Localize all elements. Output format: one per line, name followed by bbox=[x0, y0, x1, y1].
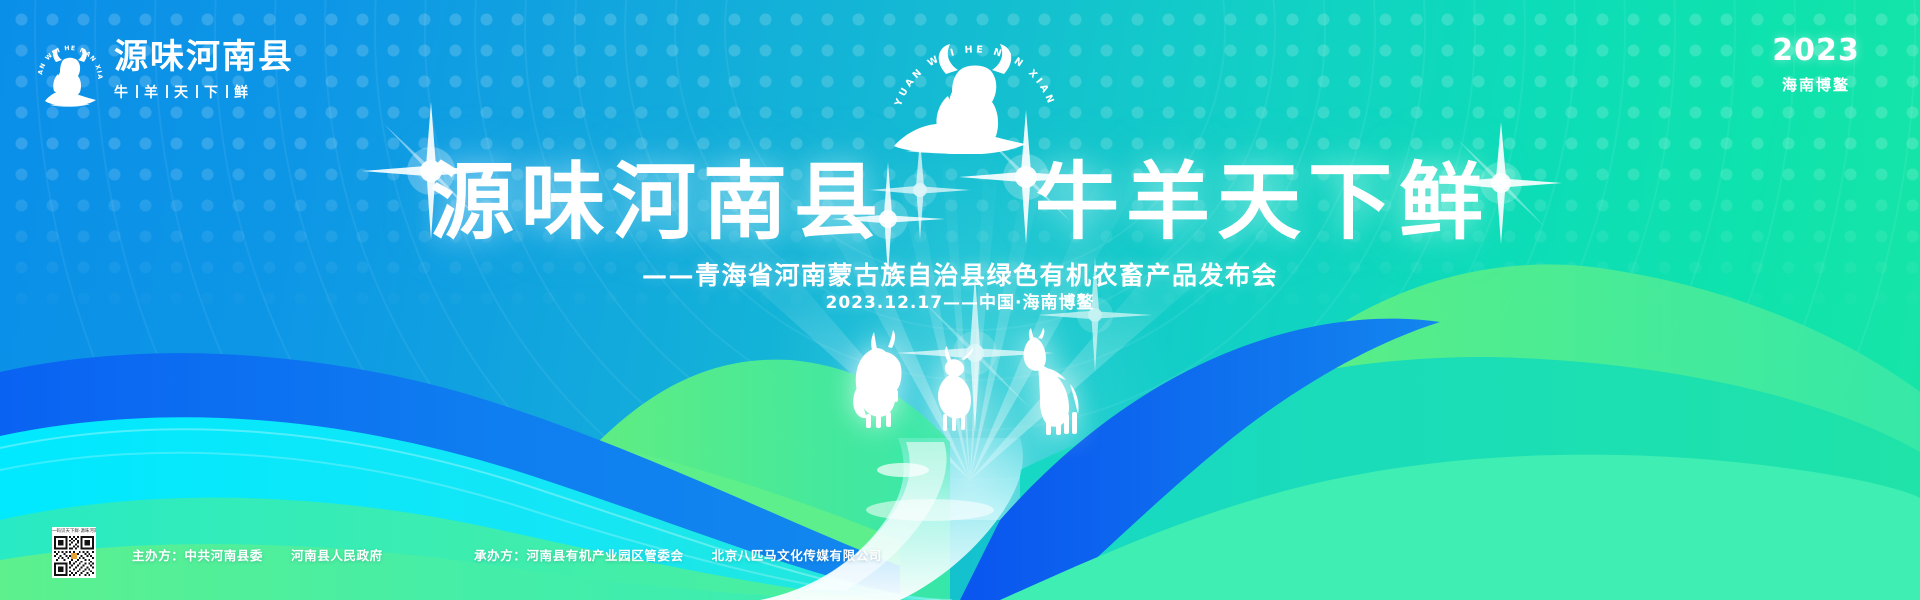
header-wordmark: 源味河南县 牛 羊 天 下 鲜 bbox=[114, 38, 294, 102]
credit-organizer-2: 北京八匹马文化传媒有限公司 bbox=[712, 548, 882, 563]
poster-canvas: YUAN WEI HE NAN XIAN 源味河南县 牛 羊 天 bbox=[0, 0, 1920, 600]
credit-host: 主办方：中共河南县委河南县人民政府 bbox=[132, 545, 383, 564]
credit-organizer: 承办方：河南县有机产业园区管委会北京八匹马文化传媒有限公司 bbox=[474, 545, 882, 564]
tagline-part-1: 羊 bbox=[144, 82, 160, 102]
tagline-divider bbox=[196, 85, 198, 98]
tagline-part-2: 天 bbox=[174, 82, 190, 102]
tagline-part-4: 鲜 bbox=[234, 82, 250, 102]
qr-code-icon[interactable] bbox=[52, 534, 96, 578]
headline-right-text: 牛羊天下鲜 bbox=[1035, 153, 1490, 251]
headline-right: 牛羊天下鲜 bbox=[1035, 160, 1490, 244]
year-badge: 2023 海南博鳌 bbox=[1746, 36, 1886, 95]
tagline-divider bbox=[226, 85, 228, 98]
header-wordmark-tagline: 牛 羊 天 下 鲜 bbox=[114, 82, 294, 102]
horse-silhouette-icon bbox=[1024, 328, 1079, 435]
year-text: 2023 bbox=[1746, 36, 1886, 66]
yak-silhouette-icon bbox=[853, 330, 901, 428]
sparkle-star-icon bbox=[860, 130, 980, 250]
credit-organizer-label: 承办方： bbox=[474, 548, 526, 563]
tagline-part-3: 下 bbox=[204, 82, 220, 102]
credit-host-2: 河南县人民政府 bbox=[291, 548, 383, 563]
tagline-divider bbox=[136, 85, 138, 98]
qr-code-block[interactable]: 一码识天下鲜·源味河南县 bbox=[52, 527, 96, 578]
yak-head-emblem-icon: YUAN WEI HE NAN XIAN bbox=[36, 32, 104, 108]
credit-organizer-1: 河南县有机产业园区管委会 bbox=[526, 548, 683, 563]
header-wordmark-main: 源味河南县 bbox=[114, 37, 294, 77]
credit-host-label: 主办方： bbox=[132, 548, 184, 563]
year-place-text: 海南博鳌 bbox=[1746, 74, 1886, 95]
headline-left-text: 源味河南县 bbox=[430, 153, 885, 251]
sheep-silhouette-icon bbox=[938, 346, 973, 431]
footer: 一码识天下鲜·源味河南县 bbox=[0, 520, 1920, 600]
header-logo[interactable]: YUAN WEI HE NAN XIAN 源味河南县 牛 羊 天 bbox=[36, 28, 294, 112]
animal-silhouette-group bbox=[840, 328, 1100, 438]
tagline-part-0: 牛 bbox=[114, 82, 130, 102]
credit-host-1: 中共河南县委 bbox=[184, 548, 263, 563]
headline-left: 源味河南县 bbox=[430, 160, 885, 244]
tagline-divider bbox=[166, 85, 168, 98]
qr-caption: 一码识天下鲜·源味河南县 bbox=[52, 527, 96, 534]
